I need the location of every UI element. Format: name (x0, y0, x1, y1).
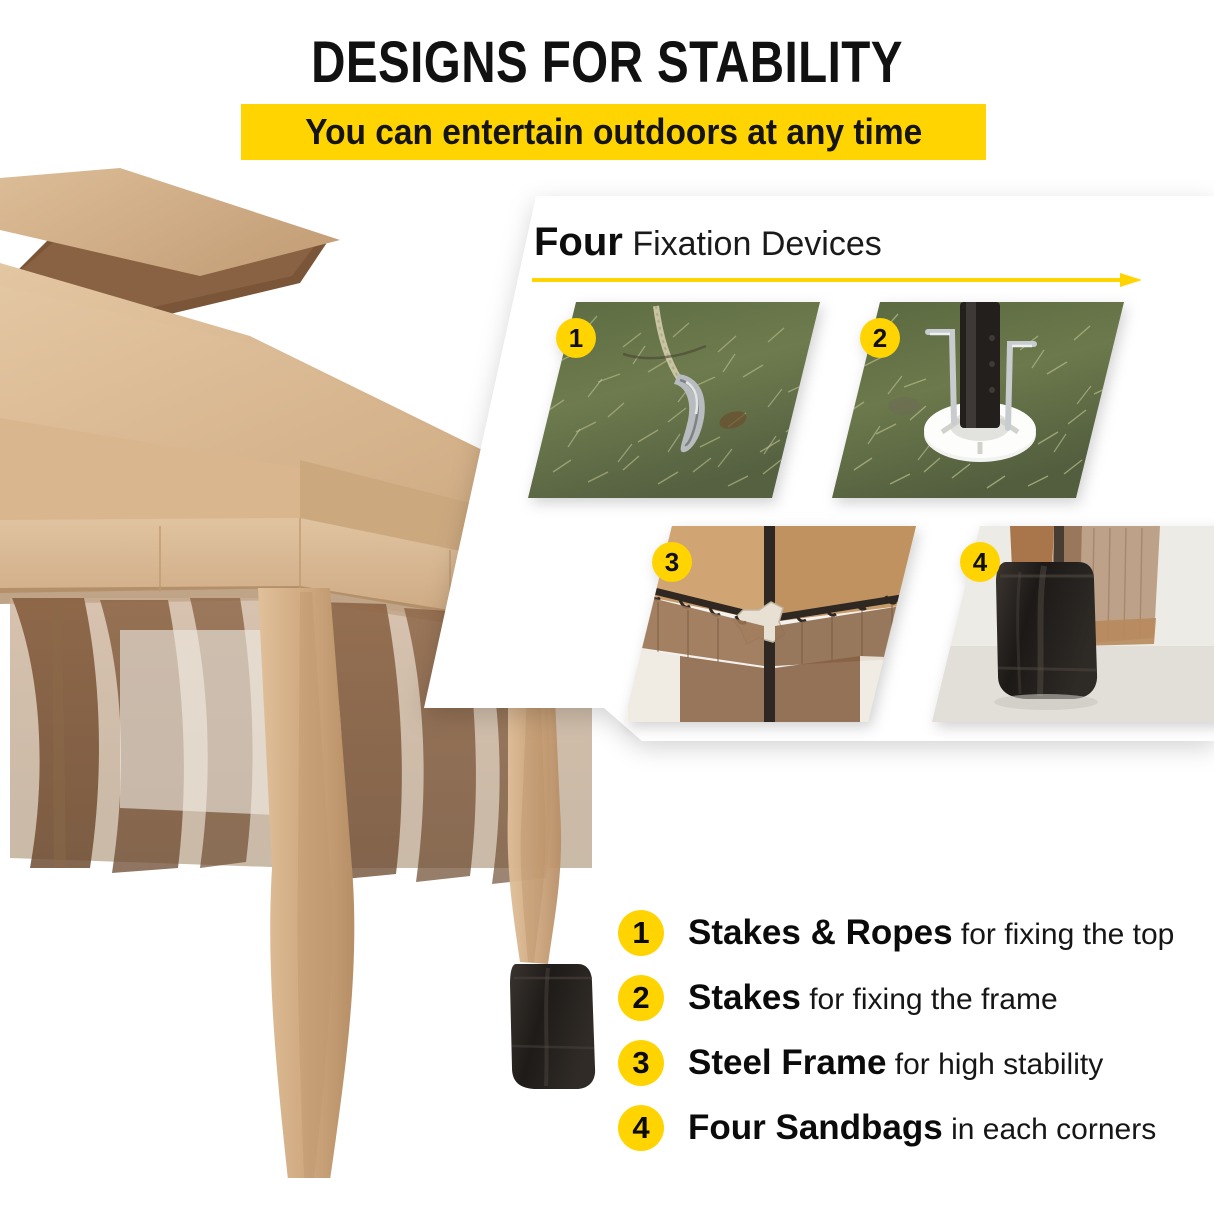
legend-desc-2: for fixing the frame (801, 983, 1058, 1016)
card-title: Four Fixation Devices (534, 222, 882, 262)
panel-4-badge: 4 (960, 542, 1000, 582)
legend-title-4: Four Sandbags (688, 1108, 943, 1147)
legend-desc-3: for high stability (886, 1048, 1103, 1081)
legend-item-1: 1 Stakes & Ropes for fixing the top (618, 900, 1198, 965)
panel-1-badge: 1 (556, 318, 596, 358)
legend-text-1: Stakes & Ropes for fixing the top (688, 915, 1174, 950)
yellow-arrow-icon (532, 272, 1142, 288)
legend-item-4: 4 Four Sandbags in each corners (618, 1095, 1198, 1160)
legend-desc-4: in each corners (943, 1113, 1156, 1146)
panel-3-steel-frame: 3 (624, 526, 916, 722)
page-title: DESIGNS FOR STABILITY (109, 34, 1104, 92)
card-title-bold: Four (534, 220, 623, 264)
legend-title-2: Stakes (688, 978, 801, 1017)
legend-title-1: Stakes & Ropes (688, 913, 953, 952)
panel-2-badge: 2 (860, 318, 900, 358)
legend-badge-2: 2 (618, 975, 664, 1021)
subtitle-text: You can entertain outdoors at any time (305, 114, 922, 150)
panel-4-sandbag: 4 (932, 526, 1214, 722)
infographic-canvas: DESIGNS FOR STABILITY You can entertain … (0, 0, 1214, 1214)
legend-item-2: 2 Stakes for fixing the frame (618, 965, 1198, 1030)
legend-badge-1: 1 (618, 910, 664, 956)
subtitle-banner: You can entertain outdoors at any time (241, 104, 986, 160)
fixation-devices-card: Four Fixation Devices (424, 196, 1214, 741)
card-title-rest: Fixation Devices (623, 225, 882, 263)
legend-text-3: Steel Frame for high stability (688, 1045, 1103, 1080)
panel-1-stake-rope: 1 (528, 302, 820, 498)
panel-3-badge: 3 (652, 542, 692, 582)
legend-badge-3: 3 (618, 1040, 664, 1086)
legend-title-3: Steel Frame (688, 1043, 886, 1082)
legend-desc-1: for fixing the top (953, 918, 1175, 951)
legend-text-4: Four Sandbags in each corners (688, 1110, 1156, 1145)
legend-text-2: Stakes for fixing the frame (688, 980, 1058, 1015)
legend-item-3: 3 Steel Frame for high stability (618, 1030, 1198, 1095)
legend-badge-4: 4 (618, 1105, 664, 1151)
panel-2-pole-base: 2 (832, 302, 1124, 498)
feature-legend-list: 1 Stakes & Ropes for fixing the top 2 St… (618, 900, 1198, 1160)
